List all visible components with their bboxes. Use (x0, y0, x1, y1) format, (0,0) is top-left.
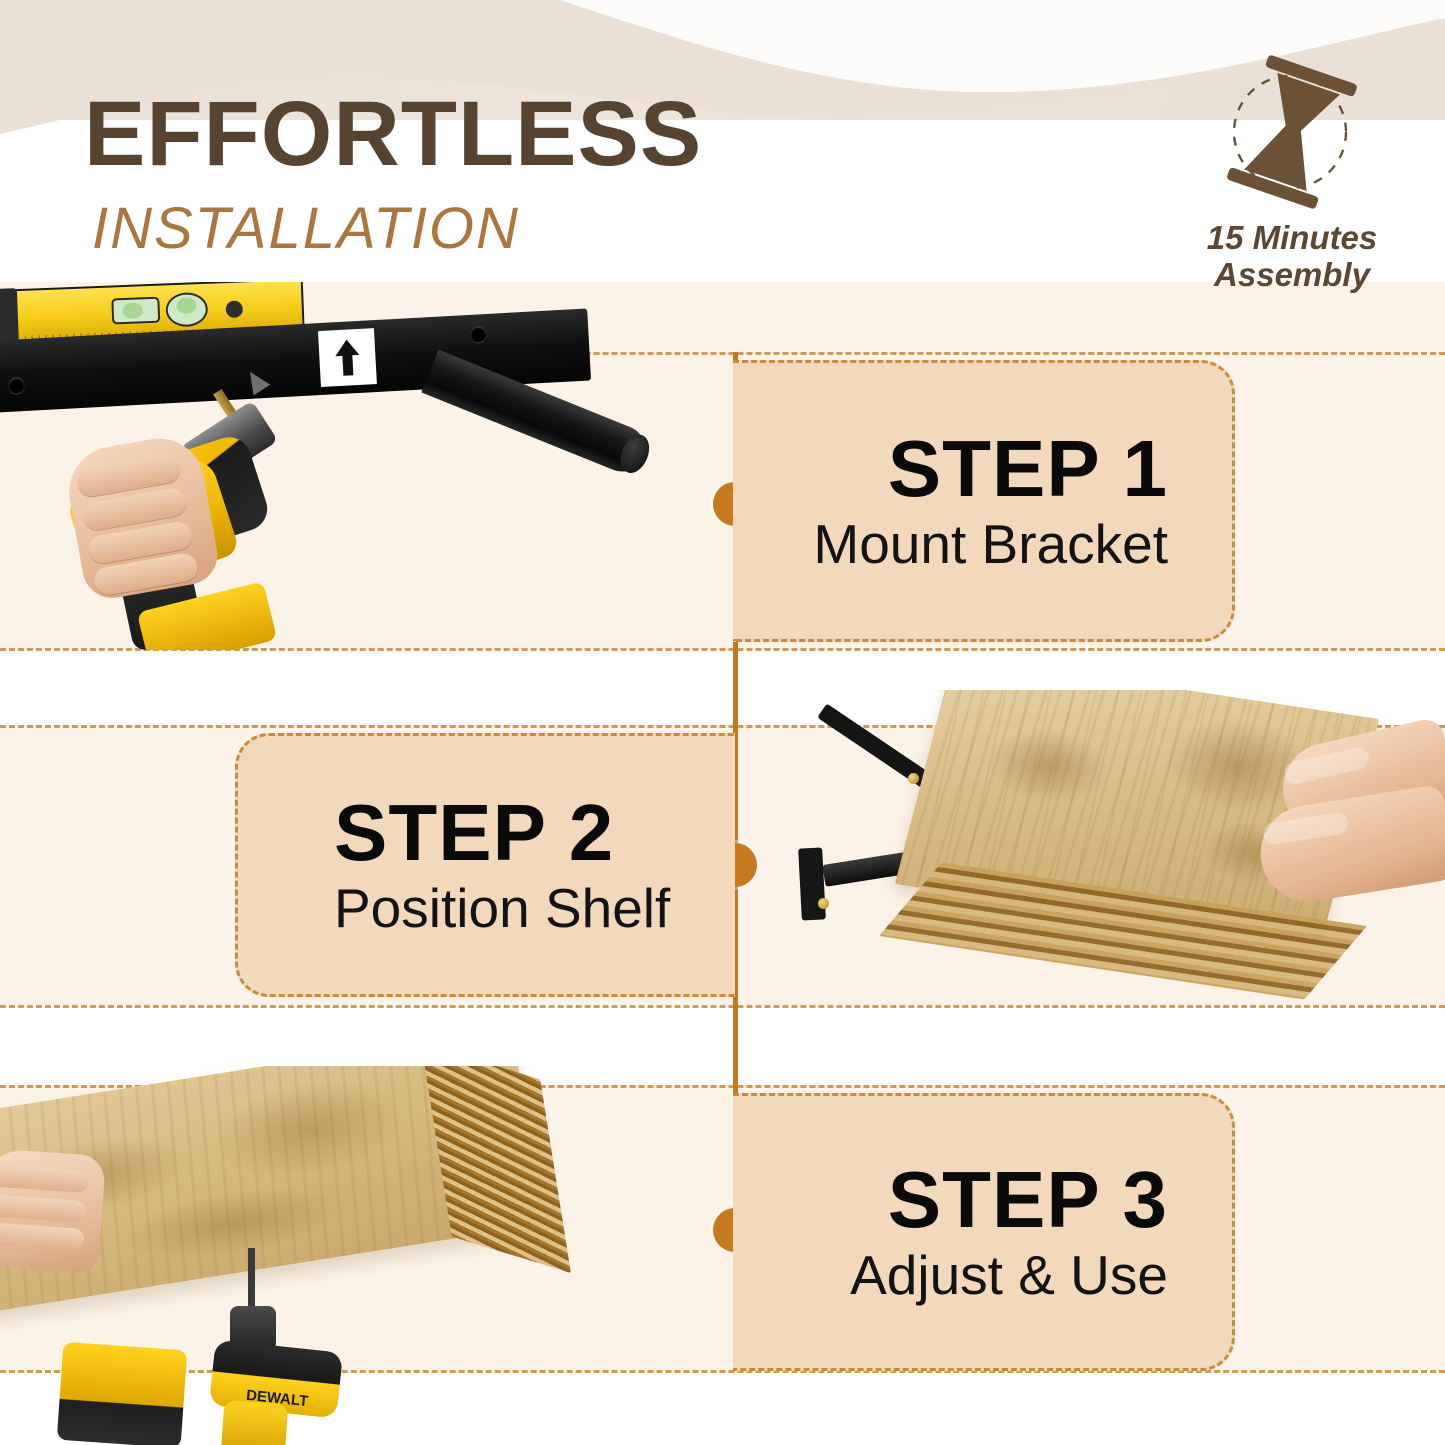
step-card-3[interactable]: STEP 3 Adjust & Use (733, 1093, 1235, 1371)
assembly-time-badge: 15 Minutes Assembly (1152, 54, 1432, 294)
step-3-title: STEP 3 (888, 1159, 1168, 1241)
step-1-subtitle: Mount Bracket (813, 514, 1168, 575)
infographic-canvas: EFFORTLESS INSTALLATION 15 Minutes Assem… (0, 0, 1445, 1445)
step-2-subtitle: Position Shelf (334, 878, 670, 939)
page-subtitle: INSTALLATION (92, 200, 520, 258)
badge-line-1: 15 Minutes (1152, 220, 1432, 257)
hourglass-icon (1207, 54, 1377, 214)
step-3-subtitle: Adjust & Use (850, 1245, 1168, 1306)
photo-step2 (790, 690, 1445, 1040)
hand-holding-drill-2 (0, 1148, 106, 1274)
page-title: EFFORTLESS (84, 88, 702, 180)
up-arrow-label-icon (318, 328, 377, 387)
step-card-2[interactable]: STEP 2 Position Shelf (235, 733, 735, 997)
photo-step3: DEWALT (0, 1066, 708, 1445)
dewalt-drill-below: DEWALT (168, 1290, 458, 1445)
step-card-1[interactable]: STEP 1 Mount Bracket (733, 360, 1235, 642)
photo-step1: DEWALT (0, 282, 690, 650)
badge-line-2: Assembly (1152, 257, 1432, 294)
step-1-title: STEP 1 (888, 428, 1168, 510)
step-2-title: STEP 2 (334, 792, 614, 874)
shelf-end-grain (421, 1066, 571, 1273)
